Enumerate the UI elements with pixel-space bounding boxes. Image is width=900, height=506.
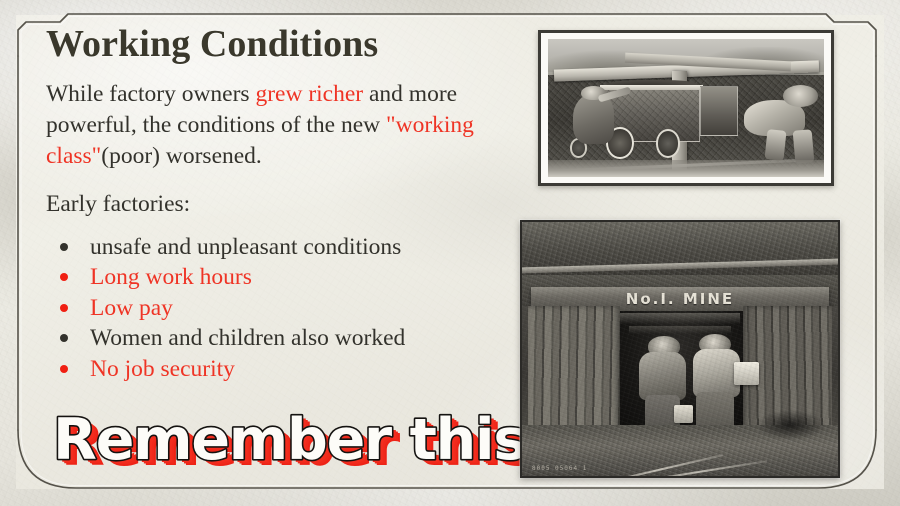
- wordart-face: Remember this!: [53, 407, 551, 473]
- early-factories-bullet-list: unsafe and unpleasant conditions Long wo…: [46, 232, 506, 385]
- engraving-cart-wheel-rear: [656, 129, 681, 158]
- engraving-second-cart: [700, 86, 739, 136]
- list-item-label: Women and children also worked: [90, 325, 405, 351]
- list-item-label: Low pay: [90, 295, 173, 321]
- image-child-labor-coal-cart-engraving: [538, 30, 834, 186]
- subheading-early-factories: Early factories:: [46, 189, 506, 219]
- intro-paragraph: While factory owners grew richer and mor…: [46, 79, 491, 172]
- engraving-child-worker-right-head: [783, 85, 819, 107]
- engraving-child-right-leg-b: [792, 129, 814, 164]
- paragraph-segment-3: (poor) worsened.: [101, 143, 262, 169]
- image-mat: [541, 33, 831, 183]
- list-item: Low pay: [46, 293, 506, 324]
- photo-negative-code: 8005 05064 1: [532, 465, 587, 472]
- bullet-dot-icon: [60, 304, 68, 312]
- engraving-mine-floor: [548, 160, 824, 177]
- photograph-plate: No.I. MINE: [522, 222, 838, 476]
- engraving-cart-rim: [600, 85, 702, 91]
- slide-text-column: Working Conditions While factory owners …: [46, 25, 506, 384]
- paragraph-highlight-grew-richer: grew richer: [255, 81, 363, 107]
- list-item-label: Long work hours: [90, 264, 252, 290]
- bullet-dot-icon: [60, 334, 68, 342]
- wordart-callout-remember-this: Remember this! Remember this! Remember t…: [52, 411, 492, 477]
- list-item: No job security: [46, 354, 506, 385]
- bullet-dot-icon: [60, 365, 68, 373]
- list-item: Long work hours: [46, 262, 506, 293]
- page-title: Working Conditions: [46, 25, 506, 65]
- photo-overall-grain: [522, 222, 838, 476]
- image-no1-mine-entrance-photo: No.I. MINE: [520, 220, 840, 478]
- list-item-label: unsafe and unpleasant conditions: [90, 234, 401, 260]
- list-item: Women and children also worked: [46, 323, 506, 354]
- paragraph-segment-1: While factory owners: [46, 81, 255, 107]
- engraving-child-right-leg-a: [765, 129, 787, 161]
- presentation-slide: Working Conditions While factory owners …: [0, 0, 900, 506]
- engraving-child-worker-left: [573, 94, 614, 144]
- bullet-dot-icon: [60, 243, 68, 251]
- list-item-label: No job security: [90, 356, 235, 382]
- engraving-plate: [548, 39, 824, 177]
- bullet-dot-icon: [60, 273, 68, 281]
- list-item: unsafe and unpleasant conditions: [46, 232, 506, 263]
